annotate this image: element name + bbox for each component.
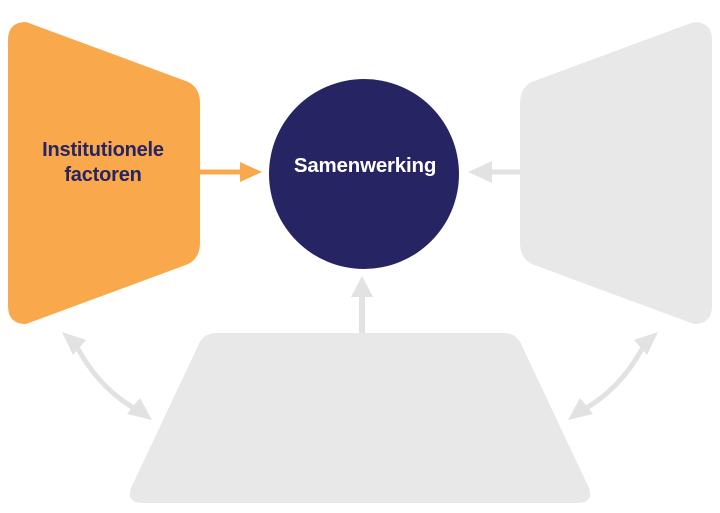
arrow-right-bottom-curved-head-start bbox=[634, 332, 658, 355]
arrow-bottom-to-center bbox=[351, 276, 373, 333]
arrow-right-to-center bbox=[468, 161, 520, 183]
node-right-factor-shape[interactable] bbox=[520, 22, 712, 324]
node-samenwerking-shape[interactable] bbox=[269, 79, 459, 269]
node-institutionele-factoren-shape[interactable] bbox=[8, 22, 200, 324]
arrow-left-to-center bbox=[200, 162, 262, 182]
arrow-right-bottom-curved-shaft bbox=[581, 347, 643, 411]
diagram-graphics bbox=[0, 0, 720, 513]
diagram-canvas: Institutionele factoren Samenwerking bbox=[0, 0, 720, 513]
arrow-left-bottom-curved bbox=[62, 332, 152, 420]
arrow-left-bottom-curved-head-start bbox=[62, 332, 86, 355]
node-bottom-factor-shape[interactable] bbox=[130, 333, 590, 503]
arrow-right-bottom-curved bbox=[568, 332, 658, 420]
arrow-left-to-center-head bbox=[240, 162, 262, 182]
arrow-bottom-to-center-head bbox=[351, 276, 373, 297]
arrow-left-bottom-curved-shaft bbox=[77, 347, 139, 411]
arrow-right-to-center-head bbox=[468, 161, 492, 183]
